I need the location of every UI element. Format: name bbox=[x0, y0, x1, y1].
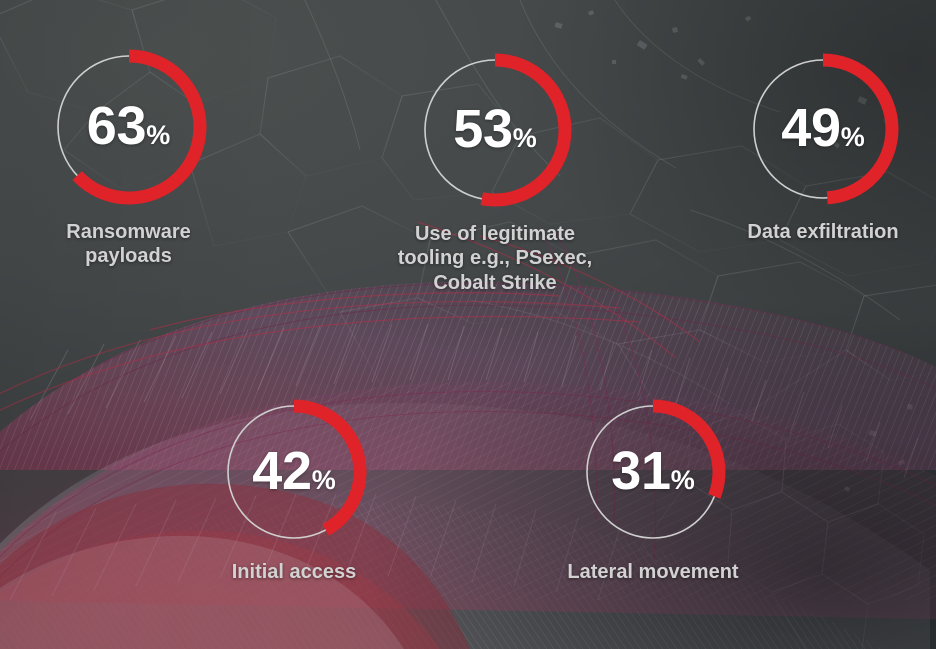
donut-label-initial-access: Initial access bbox=[194, 560, 394, 584]
donut-percent-symbol: % bbox=[841, 122, 865, 152]
donut-chart-lateral-movement: 31% bbox=[579, 398, 727, 546]
donut-value-ransomware-payloads: 63% bbox=[50, 99, 208, 153]
donut-value-number: 31 bbox=[611, 441, 670, 501]
donut-chart-data-exfiltration: 49% bbox=[746, 52, 900, 206]
donut-percent-symbol: % bbox=[146, 120, 170, 150]
donut-value-number: 53 bbox=[453, 99, 512, 159]
donut-value-initial-access: 42% bbox=[220, 444, 368, 498]
donut-label-data-exfiltration: Data exfiltration bbox=[723, 220, 923, 244]
donut-percent-symbol: % bbox=[513, 123, 537, 153]
donut-chart-legitimate-tooling: 53% bbox=[417, 52, 573, 208]
infographic-canvas: 63% Ransomware payloads 53% Use of legit… bbox=[0, 0, 936, 649]
donut-chart-ransomware-payloads: 63% bbox=[50, 48, 208, 206]
stat-card-initial-access: 42% Initial access bbox=[194, 398, 394, 584]
donut-chart-initial-access: 42% bbox=[220, 398, 368, 546]
donut-value-number: 49 bbox=[781, 98, 840, 158]
donut-value-lateral-movement: 31% bbox=[579, 444, 727, 498]
donut-value-number: 42 bbox=[252, 441, 311, 501]
donut-label-legitimate-tooling: Use of legitimate tooling e.g., PSexec, … bbox=[375, 222, 615, 295]
stat-card-lateral-movement: 31% Lateral movement bbox=[548, 398, 758, 584]
lattice-struts bbox=[30, 324, 918, 478]
donut-label-lateral-movement: Lateral movement bbox=[548, 560, 758, 584]
stat-card-data-exfiltration: 49% Data exfiltration bbox=[723, 52, 923, 244]
donut-value-data-exfiltration: 49% bbox=[746, 101, 900, 155]
donut-label-ransomware-payloads: Ransomware payloads bbox=[26, 220, 231, 269]
donut-percent-symbol: % bbox=[312, 465, 336, 495]
stat-card-ransomware-payloads: 63% Ransomware payloads bbox=[26, 48, 231, 269]
donut-value-number: 63 bbox=[87, 96, 146, 156]
donut-percent-symbol: % bbox=[671, 465, 695, 495]
stat-card-legitimate-tooling: 53% Use of legitimate tooling e.g., PSex… bbox=[375, 52, 615, 295]
donut-value-legitimate-tooling: 53% bbox=[417, 102, 573, 156]
